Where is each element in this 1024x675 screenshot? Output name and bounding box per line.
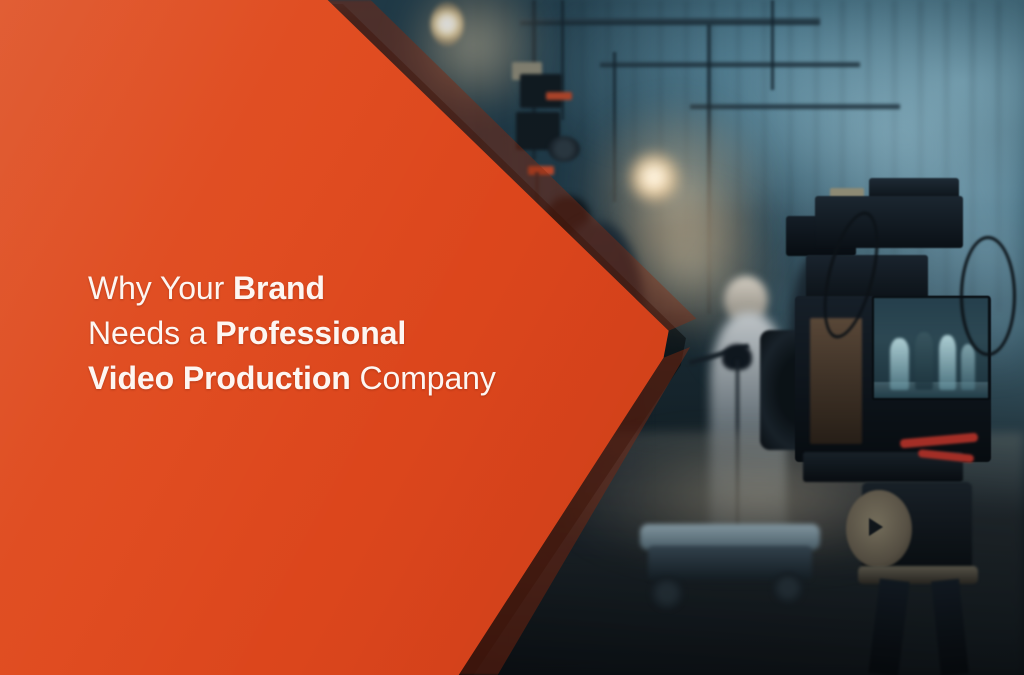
headline-line-3-bold: Video Production [88,360,351,396]
headline-line-2: Needs a Professional [88,311,608,356]
hero-banner: Why Your Brand Needs a Professional Vide… [0,0,1024,675]
headline-line-1-bold: Brand [233,270,325,306]
headline-line-3: Video Production Company [88,356,608,401]
headline-line-3-light: Company [351,360,496,396]
headline-line-2-light: Needs a [88,315,215,351]
headline-line-2-bold: Professional [215,315,406,351]
headline-line-1: Why Your Brand [88,266,608,311]
headline-line-1-light: Why Your [88,270,233,306]
page-title: Why Your Brand Needs a Professional Vide… [88,266,608,401]
